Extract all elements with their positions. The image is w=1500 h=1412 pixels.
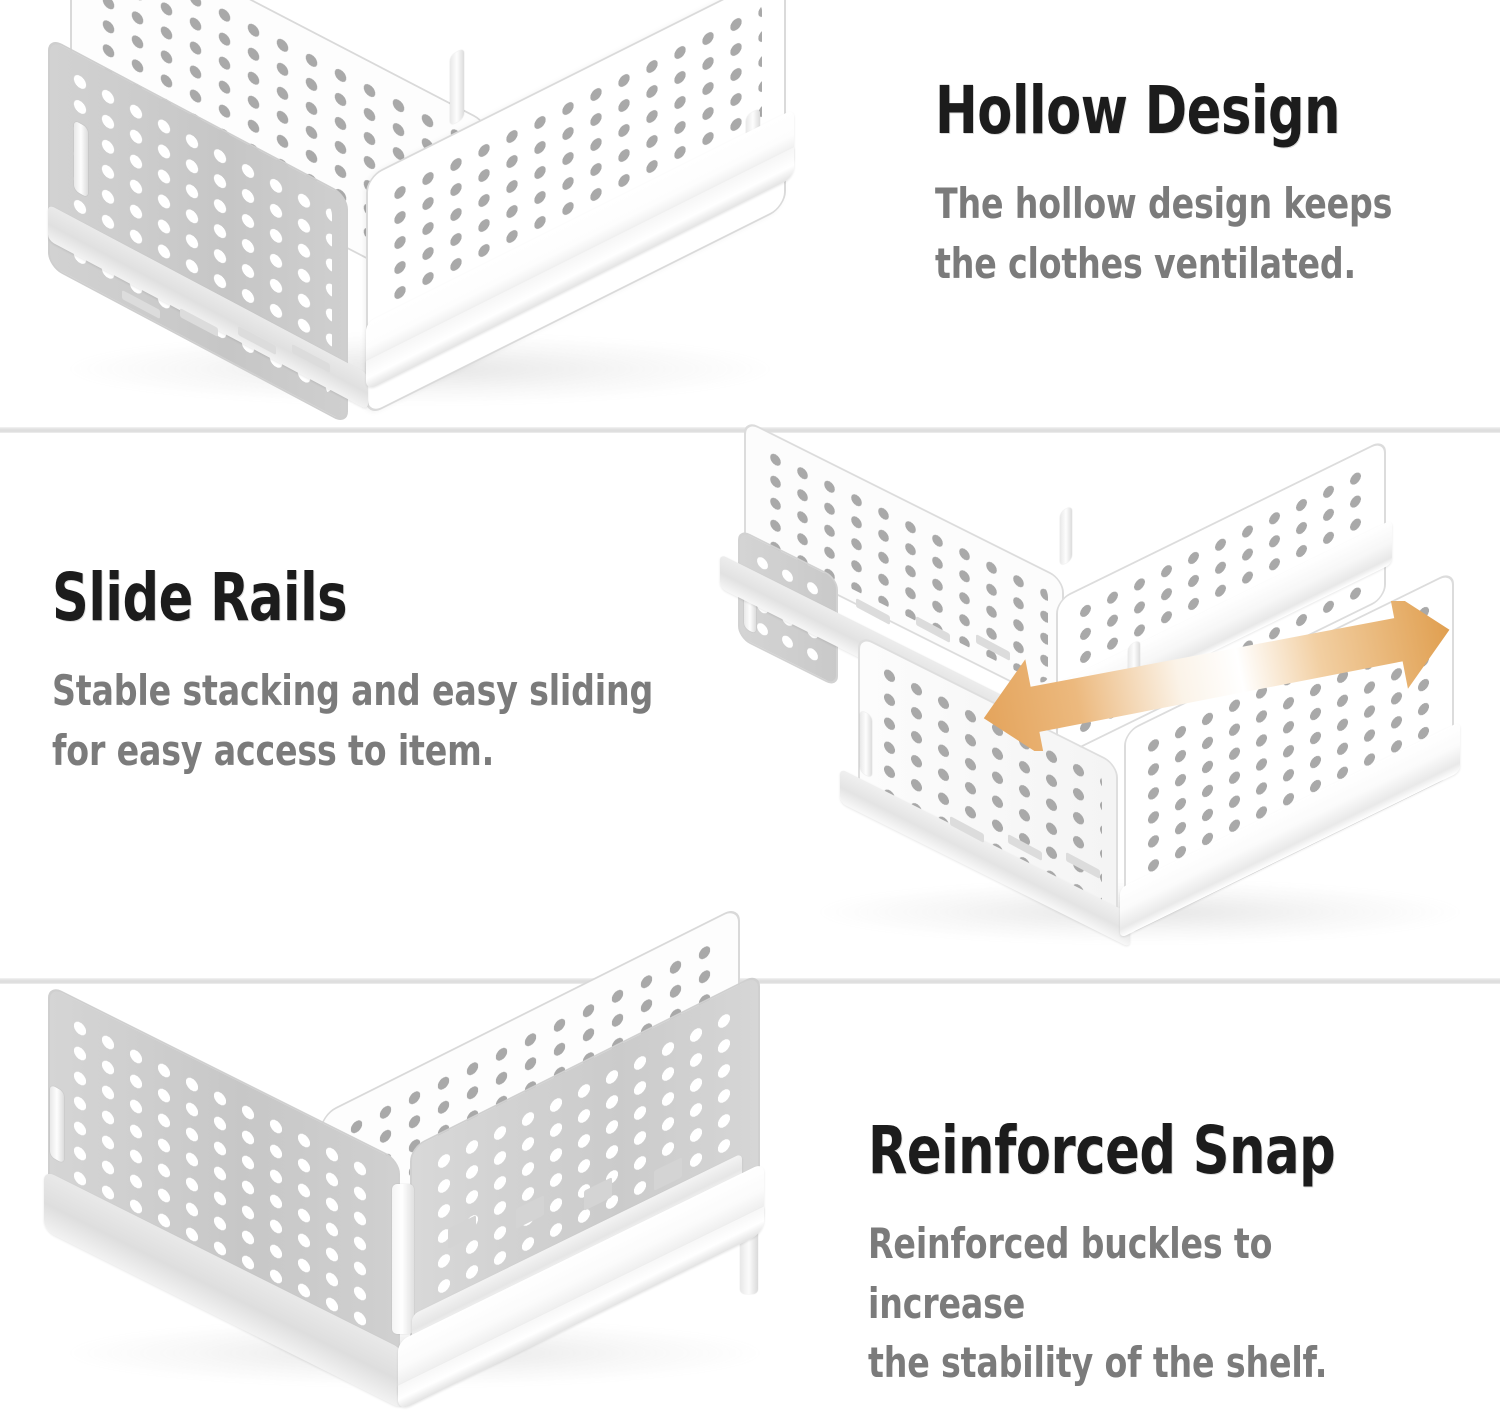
section-body: The hollow design keeps the clothes vent… [935, 174, 1428, 293]
text-block-reinforced-snap: Reinforced Snap Reinforced buckles to in… [868, 1118, 1488, 1393]
double-arrow-icon [972, 601, 1462, 751]
hinge-post [74, 120, 88, 198]
section-slide-rails: Slide Rails Stable stacking and easy sli… [0, 433, 1500, 978]
product-image-slide-rails [700, 481, 1500, 956]
hinge-post [860, 710, 872, 778]
section-heading: Slide Rails [52, 565, 654, 631]
section-body: Stable stacking and easy sliding for eas… [52, 661, 668, 780]
slide-direction-arrow [972, 601, 1462, 751]
hinge-post [50, 1084, 64, 1163]
hinge-post [392, 1184, 414, 1334]
section-heading: Reinforced Snap [868, 1118, 1401, 1184]
section-body: Reinforced buckles to increase the stabi… [868, 1214, 1414, 1393]
section-hollow-design: Hollow Design The hollow design keeps th… [0, 0, 1500, 427]
product-image-hollow-design [30, 4, 830, 414]
section-reinforced-snap: Reinforced Snap Reinforced buckles to in… [0, 984, 1500, 1410]
hinge-post [1060, 506, 1072, 566]
product-image-reinforced-snap [20, 1002, 820, 1402]
infographic-page: Hollow Design The hollow design keeps th… [0, 0, 1500, 1410]
text-block-hollow-design: Hollow Design The hollow design keeps th… [935, 78, 1495, 293]
hinge-post [450, 48, 464, 126]
text-block-slide-rails: Slide Rails Stable stacking and easy sli… [52, 565, 752, 780]
section-heading: Hollow Design [935, 78, 1417, 144]
